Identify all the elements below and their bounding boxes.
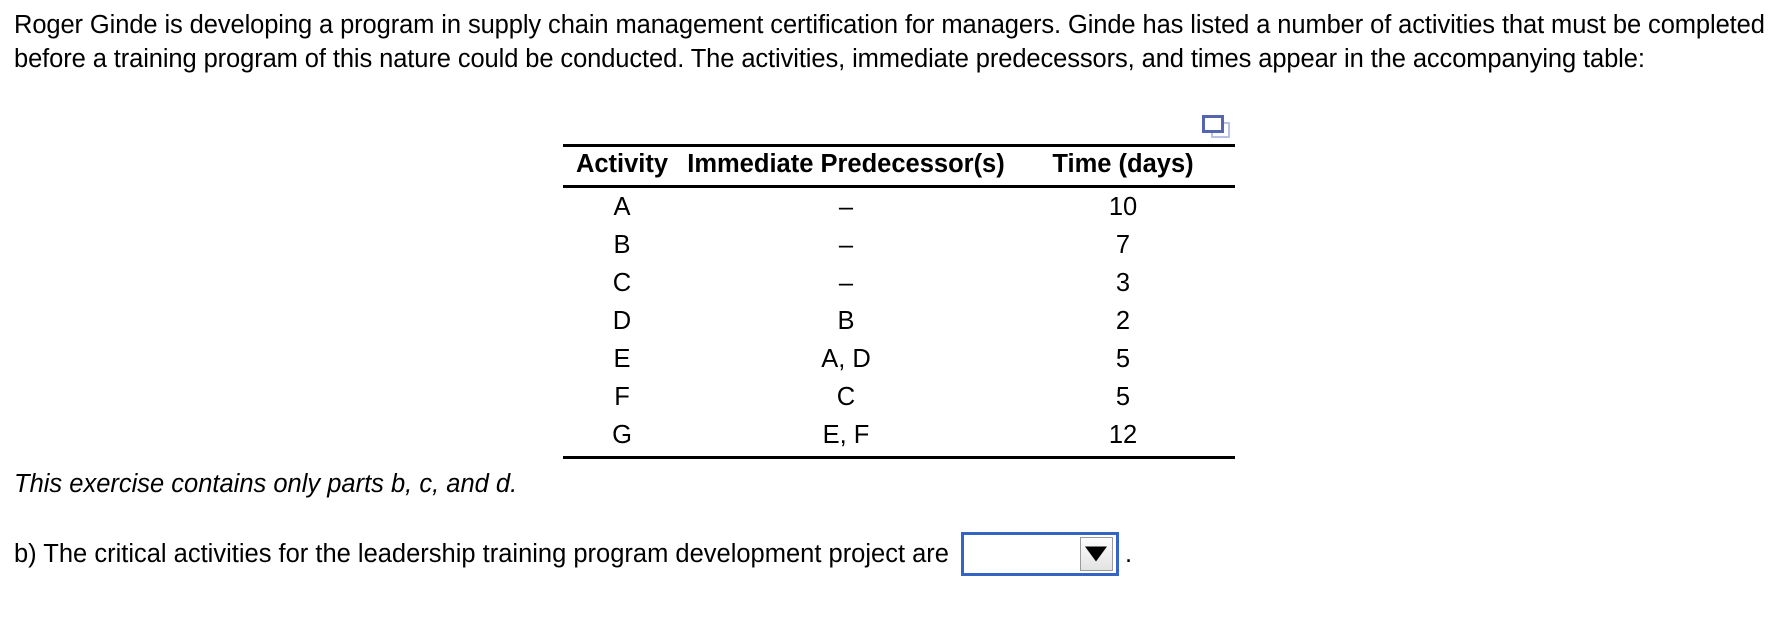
table-row: C – 3: [563, 264, 1235, 302]
cell-predecessors: –: [681, 264, 1011, 302]
cell-time: 5: [1011, 378, 1235, 416]
cell-time: 3: [1011, 264, 1235, 302]
table-row: A – 10: [563, 187, 1235, 227]
popout-window-icon[interactable]: [1199, 112, 1233, 142]
cell-time: 12: [1011, 416, 1235, 458]
activity-table-head: Activity Immediate Predecessor(s) Time (…: [563, 146, 1235, 187]
cell-predecessors: E, F: [681, 416, 1011, 458]
activity-table: Activity Immediate Predecessor(s) Time (…: [563, 144, 1235, 459]
cell-activity: F: [563, 378, 681, 416]
cell-predecessors: –: [681, 226, 1011, 264]
question-b-text: b) The critical activities for the leade…: [14, 534, 949, 574]
table-row: B – 7: [563, 226, 1235, 264]
sentence-period: .: [1125, 540, 1132, 569]
cell-predecessors: –: [681, 187, 1011, 227]
cell-activity: D: [563, 302, 681, 340]
cell-predecessors: C: [681, 378, 1011, 416]
cell-predecessors: A, D: [681, 340, 1011, 378]
question-b-row: b) The critical activities for the leade…: [14, 532, 1132, 576]
table-row: D B 2: [563, 302, 1235, 340]
table-row: G E, F 12: [563, 416, 1235, 458]
cell-time: 7: [1011, 226, 1235, 264]
problem-intro-text: Roger Ginde is developing a program in s…: [14, 8, 1766, 76]
cell-activity: G: [563, 416, 681, 458]
dropdown-toggle-button[interactable]: [1080, 537, 1113, 571]
cell-predecessors: B: [681, 302, 1011, 340]
cell-time: 10: [1011, 187, 1235, 227]
column-header-predecessors: Immediate Predecessor(s): [681, 146, 1011, 187]
cell-time: 5: [1011, 340, 1235, 378]
cell-activity: E: [563, 340, 681, 378]
table-header-row: Activity Immediate Predecessor(s) Time (…: [563, 146, 1235, 187]
activity-table-container: Activity Immediate Predecessor(s) Time (…: [563, 144, 1235, 459]
cell-activity: C: [563, 264, 681, 302]
table-row: F C 5: [563, 378, 1235, 416]
exercise-parts-note: This exercise contains only parts b, c, …: [14, 470, 517, 499]
critical-activities-dropdown[interactable]: [961, 532, 1119, 576]
chevron-down-icon: [1085, 547, 1107, 562]
activity-table-body: A – 10 B – 7 C – 3 D B 2 E A, D: [563, 187, 1235, 458]
cell-activity: B: [563, 226, 681, 264]
column-header-activity: Activity: [563, 146, 681, 187]
column-header-time: Time (days): [1011, 146, 1235, 187]
table-row: E A, D 5: [563, 340, 1235, 378]
cell-time: 2: [1011, 302, 1235, 340]
cell-activity: A: [563, 187, 681, 227]
popout-window-front-rect: [1202, 115, 1224, 133]
